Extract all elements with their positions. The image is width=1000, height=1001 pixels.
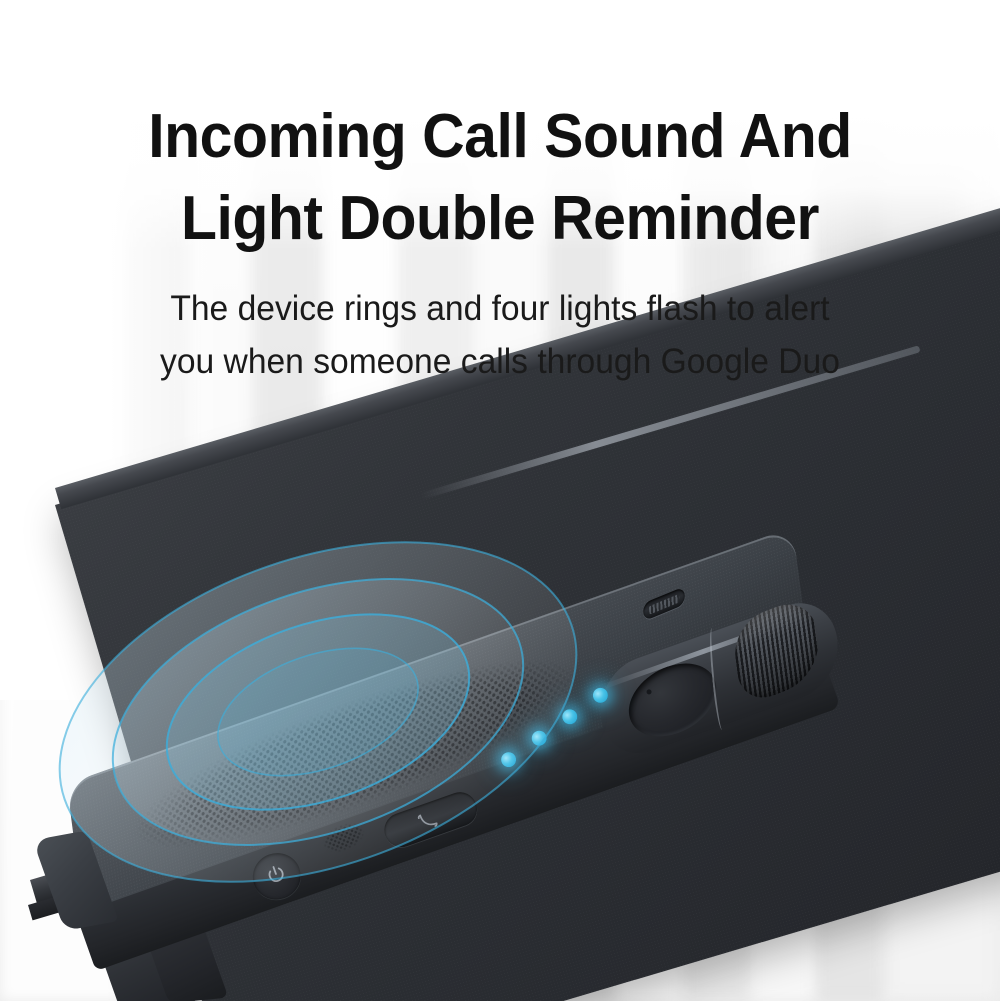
indicator-light (560, 707, 579, 726)
banner-copy: Incoming Call Sound And Light Double Rem… (0, 0, 1000, 388)
product-banner: Incoming Call Sound And Light Double Rem… (0, 0, 1000, 1001)
headline-line-1: Incoming Call Sound And (25, 96, 975, 178)
indicator-light (591, 686, 610, 705)
headline-line-2: Light Double Reminder (25, 178, 975, 260)
page-subtitle: The device rings and four lights flash t… (20, 260, 980, 388)
page-title: Incoming Call Sound And Light Double Rem… (25, 0, 975, 260)
subtitle-line-2: you when someone calls through Google Du… (20, 335, 980, 388)
indicator-light (530, 729, 549, 748)
subtitle-line-1: The device rings and four lights flash t… (20, 282, 980, 335)
